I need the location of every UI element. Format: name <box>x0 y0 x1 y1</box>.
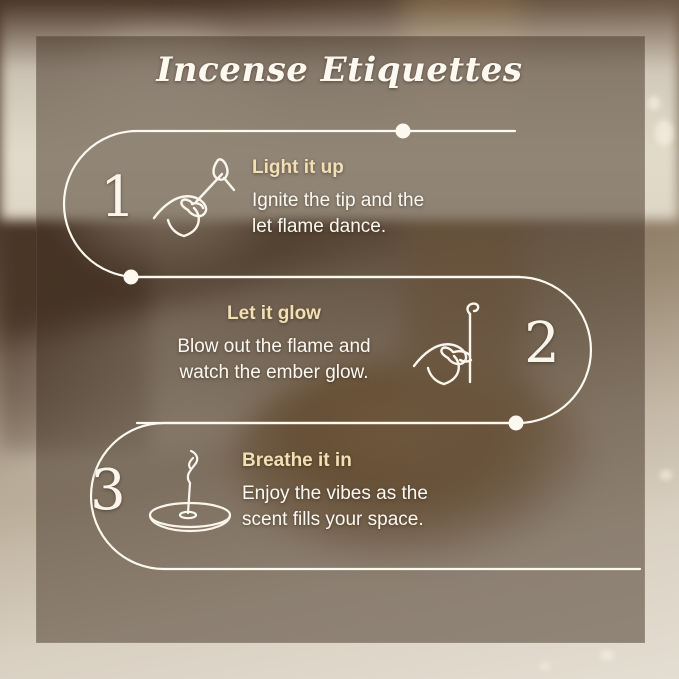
hand-holding-smoking-incense-icon <box>408 298 512 390</box>
infographic-canvas: Incense Etiquettes 1 <box>0 0 679 679</box>
step-text-1: Light it up Ignite the tip and the let f… <box>252 157 502 239</box>
step-row-1: 1 Light it up I <box>88 152 502 244</box>
step-body-1: Ignite the tip and the let flame dance. <box>252 188 502 239</box>
step-row-3: 3 Breathe it in Enjoy the vibes as the s… <box>78 445 492 537</box>
step-number-3: 3 <box>78 463 138 519</box>
page-title: Incense Etiquettes <box>0 50 679 90</box>
incense-holder-with-smoke-icon <box>138 445 242 537</box>
step-heading-3: Breathe it in <box>242 450 492 472</box>
step-body-2: Blow out the flame and watch the ember g… <box>140 334 408 385</box>
step-heading-2: Let it glow <box>140 303 408 325</box>
background-grain <box>600 650 614 660</box>
hand-holding-lit-match-icon <box>148 152 252 244</box>
step-number-1: 1 <box>88 170 148 226</box>
background-grain <box>655 120 673 146</box>
step-text-2: Let it glow Blow out the flame and watch… <box>140 303 408 385</box>
step-text-3: Breathe it in Enjoy the vibes as the sce… <box>242 450 492 532</box>
background-grain <box>648 96 660 110</box>
background-grain <box>660 470 672 480</box>
step-number-2: 2 <box>512 316 572 372</box>
background-grain <box>540 662 550 670</box>
step-heading-1: Light it up <box>252 157 502 179</box>
step-row-2: Let it glow Blow out the flame and watch… <box>140 298 572 390</box>
step-body-3: Enjoy the vibes as the scent fills your … <box>242 481 492 532</box>
